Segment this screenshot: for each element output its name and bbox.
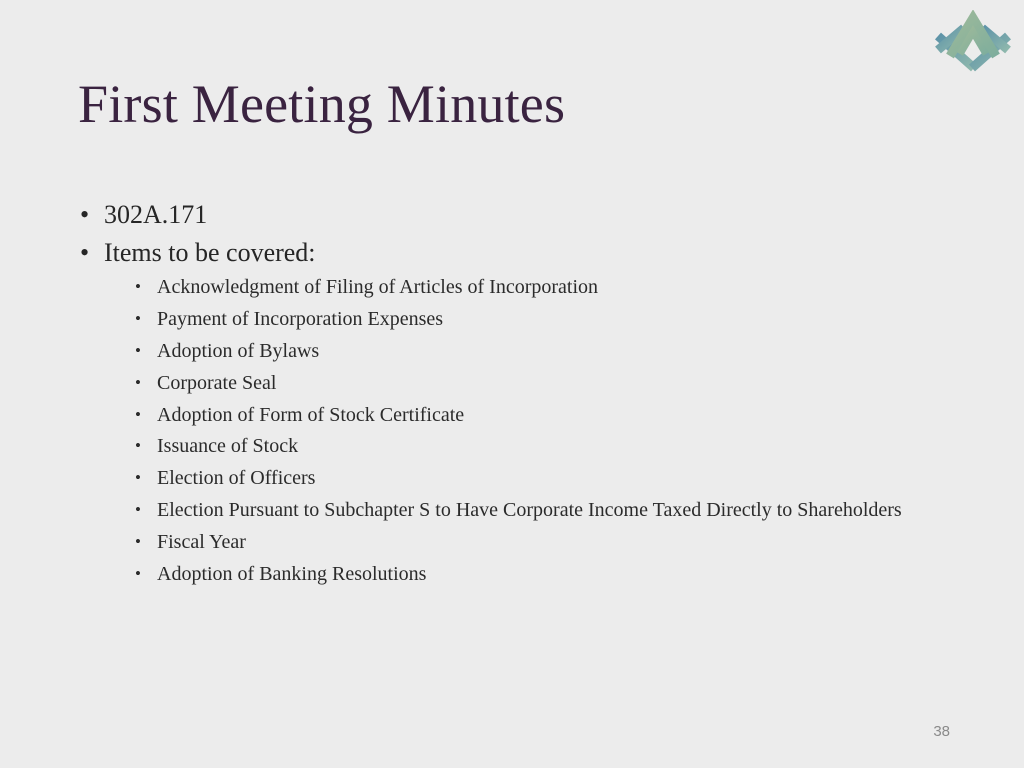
slide-body: • 302A.171 • Items to be covered: • Ackn… bbox=[0, 202, 1024, 598]
bullet-marker-icon: • bbox=[80, 240, 89, 266]
list-item: • Issuance of Stock bbox=[104, 434, 947, 458]
list-item-label: Acknowledgment of Filing of Articles of … bbox=[157, 276, 598, 298]
list-item-label: Corporate Seal bbox=[157, 372, 276, 394]
bullet-marker-icon: • bbox=[135, 403, 141, 427]
bullet-marker-icon: • bbox=[135, 498, 141, 522]
list-item: • Adoption of Banking Resolutions bbox=[104, 562, 947, 586]
bullet-list-level1: • 302A.171 • Items to be covered: • Ackn… bbox=[0, 202, 1024, 586]
bullet-marker-icon: • bbox=[80, 202, 89, 228]
list-item-label: 302A.171 bbox=[104, 200, 207, 229]
chevron-diamond-logo-icon bbox=[934, 10, 1012, 72]
list-item: • Election Pursuant to Subchapter S to H… bbox=[104, 498, 947, 522]
slide-title: First Meeting Minutes bbox=[78, 74, 565, 134]
list-item: • Fiscal Year bbox=[104, 530, 947, 554]
bullet-marker-icon: • bbox=[135, 530, 141, 554]
list-item-label: Items to be covered: bbox=[104, 238, 316, 267]
list-item-label: Adoption of Banking Resolutions bbox=[157, 563, 426, 585]
bullet-list-level2: • Acknowledgment of Filing of Articles o… bbox=[104, 275, 1024, 586]
page-number: 38 bbox=[933, 723, 950, 740]
list-item-label: Fiscal Year bbox=[157, 531, 246, 553]
bullet-marker-icon: • bbox=[135, 339, 141, 363]
bullet-marker-icon: • bbox=[135, 466, 141, 490]
list-item-label: Issuance of Stock bbox=[157, 435, 298, 457]
list-item: • Election of Officers bbox=[104, 466, 947, 490]
presentation-slide: First Meeting Minutes • 302A.171 • Items… bbox=[0, 0, 1024, 768]
list-item-label: Adoption of Form of Stock Certificate bbox=[157, 404, 464, 426]
list-item: • 302A.171 bbox=[0, 202, 1024, 228]
list-item: • Adoption of Form of Stock Certificate bbox=[104, 403, 947, 427]
list-item-label: Adoption of Bylaws bbox=[157, 340, 319, 362]
list-item: • Corporate Seal bbox=[104, 371, 947, 395]
bullet-marker-icon: • bbox=[135, 307, 141, 331]
list-item: • Items to be covered: • Acknowledgment … bbox=[0, 240, 1024, 586]
list-item: • Adoption of Bylaws bbox=[104, 339, 947, 363]
bullet-marker-icon: • bbox=[135, 275, 141, 299]
bullet-marker-icon: • bbox=[135, 371, 141, 395]
list-item: • Payment of Incorporation Expenses bbox=[104, 307, 947, 331]
list-item-label: Payment of Incorporation Expenses bbox=[157, 308, 443, 330]
bullet-marker-icon: • bbox=[135, 562, 141, 586]
list-item-label: Election Pursuant to Subchapter S to Hav… bbox=[157, 499, 902, 521]
bullet-marker-icon: • bbox=[135, 434, 141, 458]
list-item-label: Election of Officers bbox=[157, 467, 315, 489]
list-item: • Acknowledgment of Filing of Articles o… bbox=[104, 275, 947, 299]
